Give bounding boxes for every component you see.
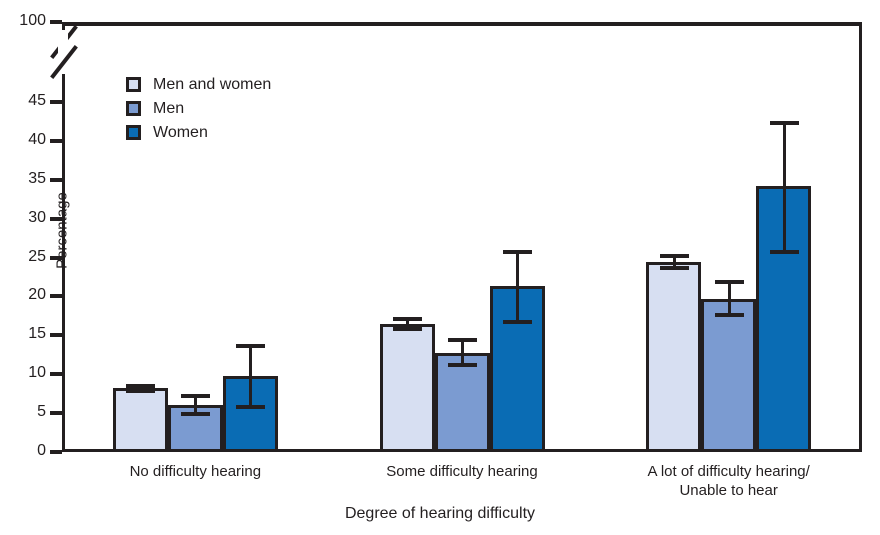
y-tick-label: 5 xyxy=(2,402,46,422)
x-axis-title: Degree of hearing difficulty xyxy=(0,505,880,523)
y-tick-mark xyxy=(50,139,62,143)
bar xyxy=(646,262,701,452)
y-tick-label: 100 xyxy=(2,11,46,31)
y-tick-label: 20 xyxy=(2,285,46,305)
bar xyxy=(380,324,435,452)
y-tick-label: 30 xyxy=(2,208,46,228)
legend-label: Women xyxy=(153,124,208,142)
y-tick-mark xyxy=(50,411,62,415)
y-tick-mark xyxy=(50,100,62,104)
x-category-label: Some difficulty hearing xyxy=(312,462,612,481)
legend-item: Women xyxy=(126,122,271,143)
bar xyxy=(701,299,756,452)
y-tick-mark xyxy=(50,372,62,376)
x-category-label: No difficulty hearing xyxy=(45,462,345,481)
y-tick-label: 10 xyxy=(2,363,46,383)
bar xyxy=(113,388,168,452)
y-tick-mark xyxy=(50,333,62,337)
y-tick-mark xyxy=(50,178,62,182)
legend-swatch xyxy=(126,125,141,140)
y-tick-label: 15 xyxy=(2,324,46,344)
legend-item: Men and women xyxy=(126,74,271,95)
y-tick-label: 25 xyxy=(2,247,46,267)
y-tick-mark xyxy=(50,217,62,221)
bar-chart: Percentage 051015202530354045100 Men and… xyxy=(0,0,880,535)
legend-swatch xyxy=(126,77,141,92)
bar xyxy=(435,353,490,452)
legend-label: Men xyxy=(153,100,184,118)
legend-swatch xyxy=(126,101,141,116)
x-category-label: A lot of difficulty hearing/Unable to he… xyxy=(579,462,879,500)
y-tick-mark xyxy=(50,256,62,260)
legend-label: Men and women xyxy=(153,76,271,94)
y-tick-mark xyxy=(50,450,62,454)
y-tick-label: 35 xyxy=(2,169,46,189)
legend: Men and womenMenWomen xyxy=(126,74,271,146)
y-tick-label: 45 xyxy=(2,91,46,111)
y-tick-label: 0 xyxy=(2,441,46,461)
legend-item: Men xyxy=(126,98,271,119)
y-tick-label: 40 xyxy=(2,130,46,150)
y-tick-mark xyxy=(50,294,62,298)
